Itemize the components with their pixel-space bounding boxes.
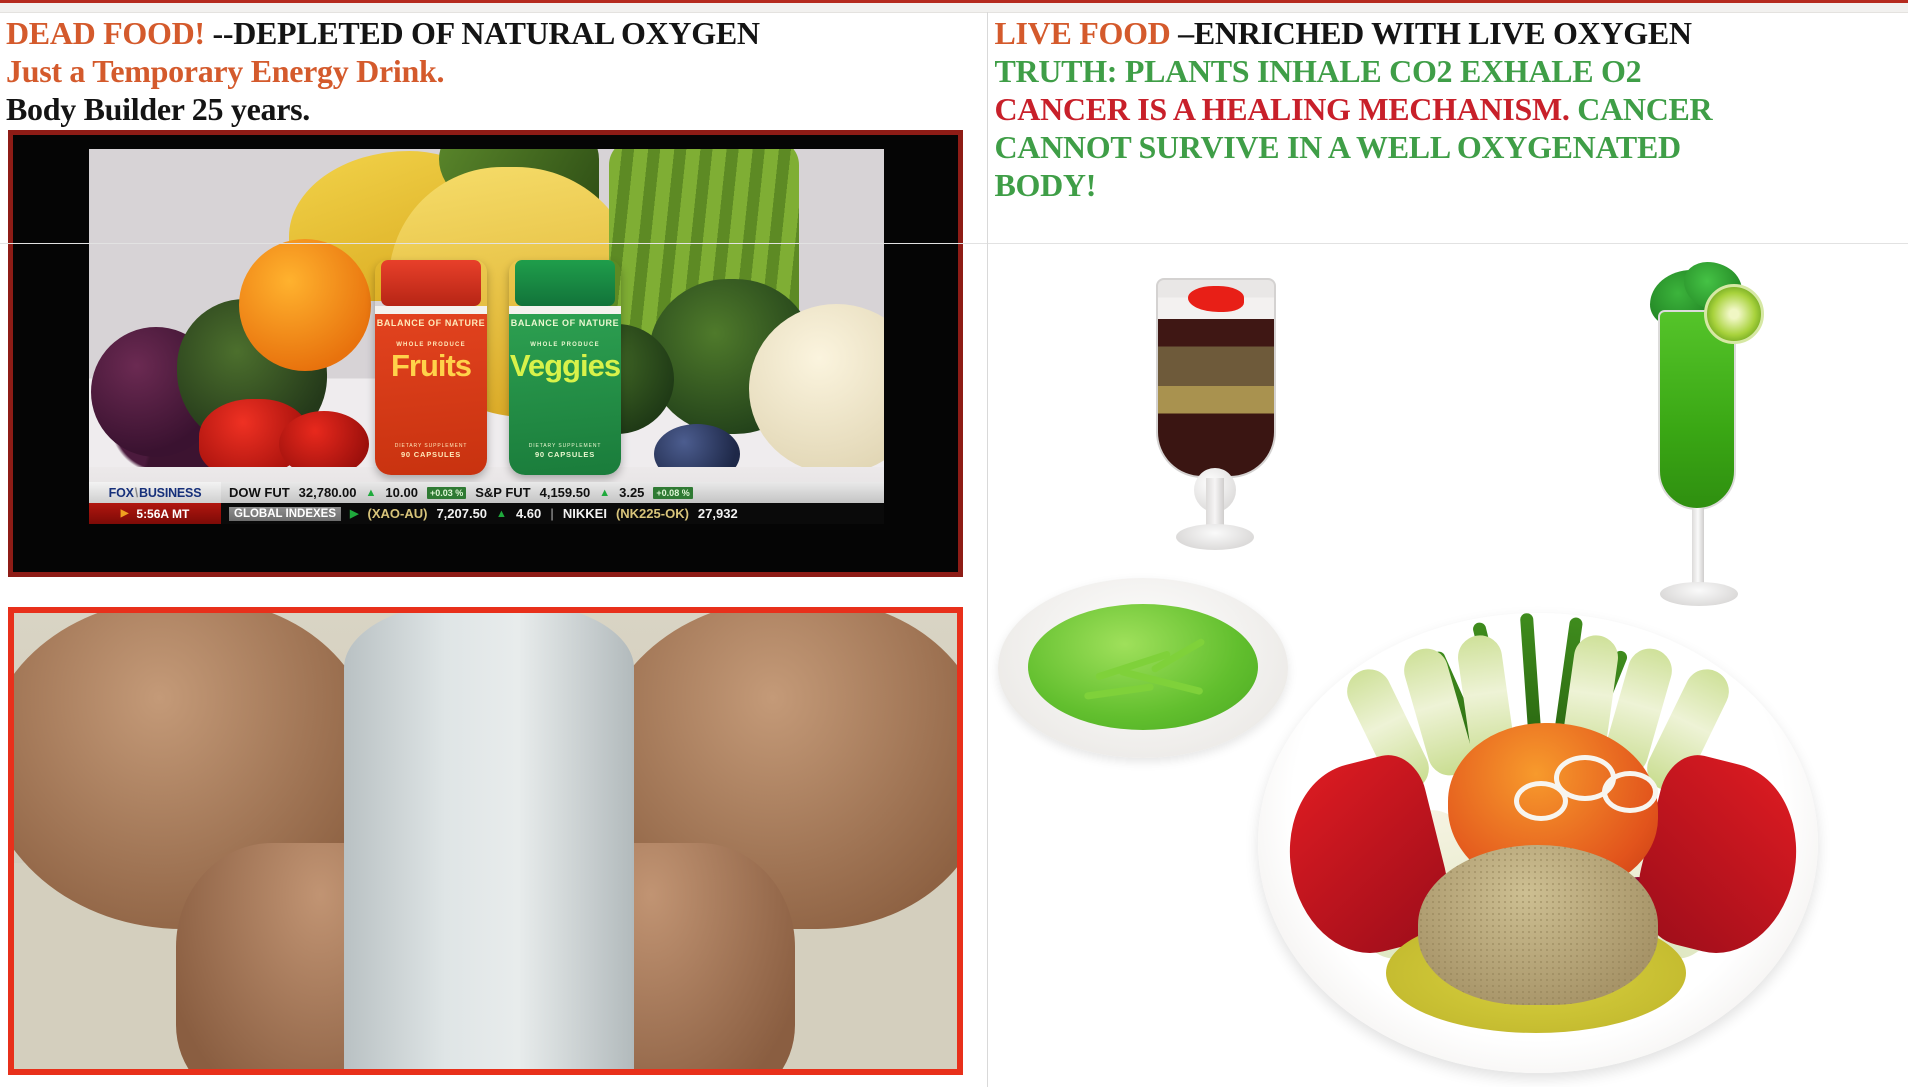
document-page: DEAD FOOD! --DEPLETED OF NATURAL OXYGEN … (0, 12, 1908, 1087)
photo-bodybuilder (8, 607, 963, 1075)
white-tank-top (344, 607, 634, 1075)
right-headline-block: LIVE FOOD –ENRICHED WITH LIVE OXYGEN TRU… (988, 12, 1908, 204)
flute-stem (1692, 508, 1704, 588)
asparagus-spear (1520, 613, 1541, 733)
goblet-foot (1176, 524, 1254, 550)
bottle-supplement-label: DIETARY SUPPLEMENT (509, 443, 621, 449)
flute-foot (1660, 582, 1738, 606)
nikkei-symbol: (NK225-OK) (616, 506, 689, 521)
dow-fut-label: DOW FUT (229, 485, 290, 500)
cancer-healing-red: CANCER IS A HEALING MECHANISM. (994, 91, 1569, 127)
dead-food-rest: --DEPLETED OF NATURAL OXYGEN (205, 15, 760, 51)
up-arrow-icon: ▲ (366, 487, 377, 499)
dow-fut-change: 10.00 (385, 485, 418, 500)
right-column-live-food: LIVE FOOD –ENRICHED WITH LIVE OXYGEN TRU… (987, 12, 1908, 1087)
fox-business-logo: FOX\BUSINESS (89, 482, 221, 503)
bottle-seal-band (375, 306, 487, 314)
cancer-green-tail: CANCER (1570, 91, 1713, 127)
play-triangle-icon: ▶ (121, 508, 129, 519)
up-arrow-icon: ▲ (496, 508, 507, 520)
photo-balance-of-nature-tv: BALANCE OF NATURE WHOLE PRODUCE Fruits D… (8, 130, 963, 577)
buckwheat-grain-mound (1418, 845, 1658, 1005)
fox-wordmark: FOX (109, 486, 134, 500)
left-column-dead-food: DEAD FOOD! --DEPLETED OF NATURAL OXYGEN … (0, 12, 987, 1087)
ticker-row-1: FOX\BUSINESS DOW FUT 32,780.00 ▲ 10.00 +… (89, 482, 884, 503)
bottle-brand-label: BALANCE OF NATURE (375, 318, 487, 328)
xao-au-value: 7,207.50 (436, 506, 487, 521)
layered-parfait-goblet (1148, 278, 1283, 608)
right-column-rule (988, 243, 1908, 244)
bottle-product-name: Veggies (509, 348, 621, 384)
bottle-cap (515, 260, 615, 306)
green-soup-bowl (998, 578, 1288, 758)
bodybuilder-scene (14, 613, 957, 1069)
bottle-brand-label: BALANCE OF NATURE (509, 318, 621, 328)
logo-slash-icon: \ (135, 486, 138, 500)
left-headline-block: DEAD FOOD! --DEPLETED OF NATURAL OXYGEN … (0, 12, 987, 128)
right-headline-line4: CANNOT SURVIVE IN A WELL OXYGENATED (994, 128, 1904, 166)
left-headline-line2: Just a Temporary Energy Drink. (6, 52, 983, 90)
orange-produce (239, 239, 371, 371)
ticker-futures-row: DOW FUT 32,780.00 ▲ 10.00 +0.03 % S&P FU… (221, 482, 884, 503)
live-food-illustration (988, 248, 1908, 1086)
bottle-cap (381, 260, 481, 306)
bottle-supplement-label: DIETARY SUPPLEMENT (375, 443, 487, 449)
fox-business-ticker: FOX\BUSINESS DOW FUT 32,780.00 ▲ 10.00 +… (89, 482, 884, 524)
right-headline-line1: LIVE FOOD –ENRICHED WITH LIVE OXYGEN (994, 14, 1904, 52)
green-soup-liquid (1028, 604, 1258, 730)
right-headline-line2: TRUTH: PLANTS INHALE CO2 EXHALE O2 (994, 52, 1904, 90)
sp-fut-percent-badge: +0.08 % (653, 487, 692, 499)
ticker-time-value: 5:56A MT (136, 507, 189, 521)
bottle-seal-band (509, 306, 621, 314)
bottle-product-name: Fruits (375, 348, 487, 384)
nikkei-value: 27,932 (698, 506, 738, 521)
bottle-capsule-count: 90 CAPSULES (509, 450, 621, 459)
dow-fut-percent-badge: +0.03 % (427, 487, 466, 499)
left-headline-line1: DEAD FOOD! --DEPLETED OF NATURAL OXYGEN (6, 14, 983, 52)
right-headline-line3: CANCER IS A HEALING MECHANISM. CANCER (994, 90, 1904, 128)
green-juice-flute (1628, 260, 1768, 620)
bottle-capsule-count: 90 CAPSULES (375, 450, 487, 459)
sp-fut-value: 4,159.50 (540, 485, 591, 500)
live-food-emphasis: LIVE FOOD (994, 15, 1170, 51)
left-column-rule (0, 243, 988, 244)
supplement-bottle-veggies: BALANCE OF NATURE WHOLE PRODUCE Veggies … (509, 260, 621, 475)
lime-slice-garnish (1704, 284, 1764, 344)
global-indexes-label: GLOBAL INDEXES (229, 507, 341, 521)
xao-au-symbol: (XAO-AU) (368, 506, 428, 521)
business-wordmark: BUSINESS (139, 486, 201, 500)
section-arrow-icon: ▶ (350, 507, 358, 520)
red-fruit-topping (1188, 286, 1244, 312)
supplement-bottle-fruits: BALANCE OF NATURE WHOLE PRODUCE Fruits D… (375, 260, 487, 475)
live-food-rest: –ENRICHED WITH LIVE OXYGEN (1170, 15, 1691, 51)
raw-vegan-plate (1258, 613, 1818, 1073)
sp-fut-change: 3.25 (619, 485, 644, 500)
nikkei-label: NIKKEI (563, 506, 607, 521)
up-arrow-icon: ▲ (599, 487, 610, 499)
ticker-divider: | (550, 506, 554, 521)
ticker-global-indexes-row: GLOBAL INDEXES ▶ (XAO-AU) 7,207.50 ▲ 4.6… (221, 503, 884, 524)
sp-fut-label: S&P FUT (475, 485, 530, 500)
ticker-row-2: ▶ 5:56A MT GLOBAL INDEXES ▶ (XAO-AU) 7,2… (89, 503, 884, 524)
goblet-stem (1206, 478, 1224, 530)
dow-fut-value: 32,780.00 (299, 485, 357, 500)
ticker-clock: ▶ 5:56A MT (89, 503, 221, 524)
right-headline-line5: BODY! (994, 166, 1904, 204)
two-column-table: DEAD FOOD! --DEPLETED OF NATURAL OXYGEN … (0, 12, 1908, 1087)
left-headline-line3: Body Builder 25 years. (6, 90, 983, 128)
xao-au-change: 4.60 (516, 506, 541, 521)
dead-food-emphasis: DEAD FOOD! (6, 15, 205, 51)
tv-video-frame: BALANCE OF NATURE WHOLE PRODUCE Fruits D… (89, 149, 884, 519)
tv-letterbox: BALANCE OF NATURE WHOLE PRODUCE Fruits D… (13, 135, 958, 572)
